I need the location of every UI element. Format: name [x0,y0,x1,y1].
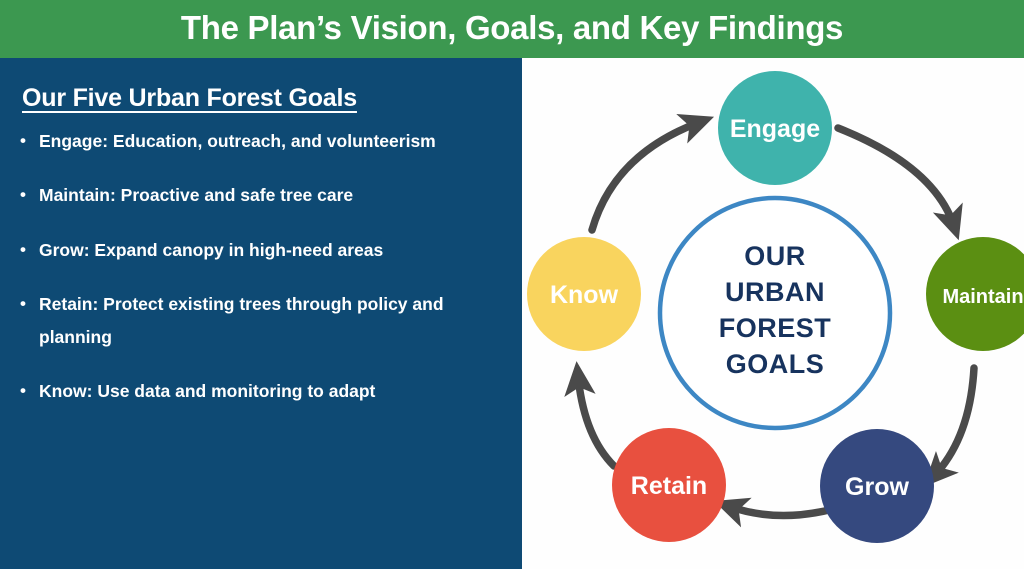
cycle-diagram: OUR URBAN FOREST GOALS Engage Maintain G… [522,58,1024,569]
retain-label: Retain [631,472,707,500]
list-item: Engage: Education, outreach, and volunte… [14,125,504,157]
header-band: The Plan’s Vision, Goals, and Key Findin… [0,0,1024,58]
arrow-retain-to-know [578,376,614,466]
cycle-node-retain[interactable]: Retain [612,428,726,542]
center-line-2: URBAN [725,277,825,307]
center-line-3: FOREST [719,313,832,343]
center-hub: OUR URBAN FOREST GOALS [660,198,890,428]
goals-list: Engage: Education, outreach, and volunte… [14,125,504,407]
page-title: The Plan’s Vision, Goals, and Key Findin… [181,11,843,47]
cycle-node-know[interactable]: Know [527,237,641,351]
cycle-node-grow[interactable]: Grow [820,429,934,543]
goals-panel: Our Five Urban Forest Goals Engage: Educ… [0,58,522,569]
engage-label: Engage [730,115,820,143]
maintain-label: Maintain [942,286,1023,308]
arrow-know-to-engage [592,122,700,230]
center-line-4: GOALS [726,349,825,379]
goals-heading: Our Five Urban Forest Goals [22,84,504,113]
arrow-engage-to-maintain [838,128,954,226]
arrow-maintain-to-grow [934,368,974,476]
cycle-node-engage[interactable]: Engage [718,71,832,185]
center-line-1: OUR [744,241,806,271]
cycle-diagram-panel: OUR URBAN FOREST GOALS Engage Maintain G… [522,58,1024,569]
list-item: Retain: Protect existing trees through p… [14,288,504,353]
grow-label: Grow [845,473,909,501]
cycle-node-maintain[interactable]: Maintain [926,237,1024,351]
know-label: Know [550,281,619,309]
list-item: Grow: Expand canopy in high-need areas [14,234,504,266]
slide-canvas: The Plan’s Vision, Goals, and Key Findin… [0,0,1024,569]
list-item: Know: Use data and monitoring to adapt [14,375,504,407]
list-item: Maintain: Proactive and safe tree care [14,179,504,211]
